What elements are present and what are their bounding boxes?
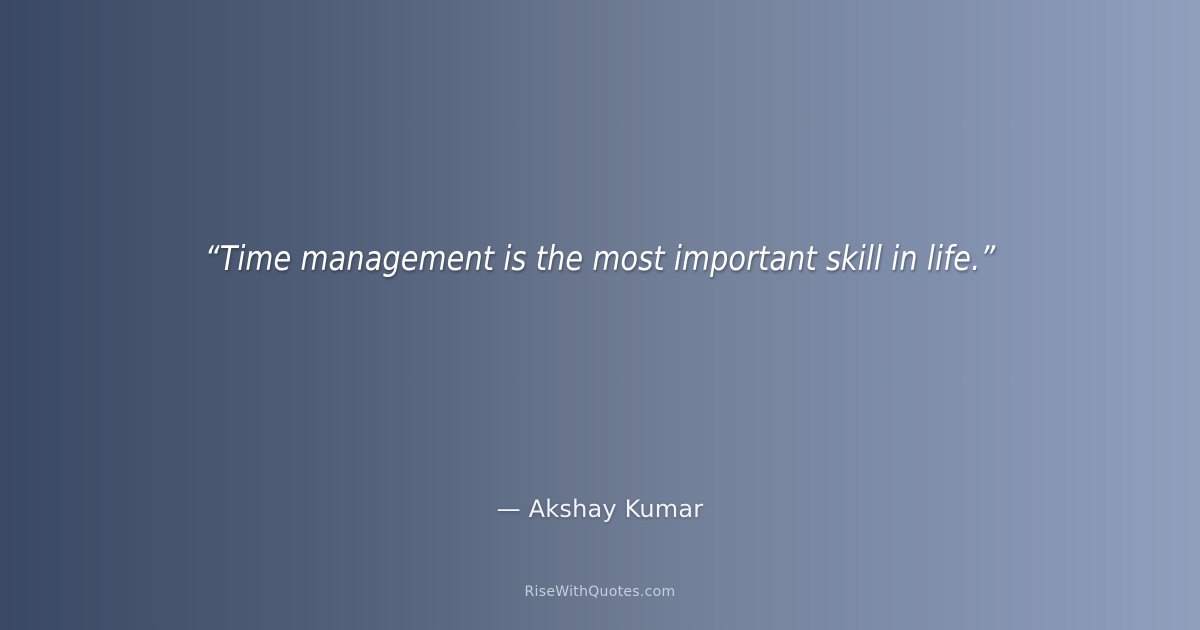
- quote-author: — Akshay Kumar: [0, 494, 1200, 524]
- site-watermark: RiseWithQuotes.com: [0, 583, 1200, 601]
- quote-card: “Time management is the most important s…: [0, 0, 1200, 630]
- quote-text: “Time management is the most important s…: [36, 236, 1164, 282]
